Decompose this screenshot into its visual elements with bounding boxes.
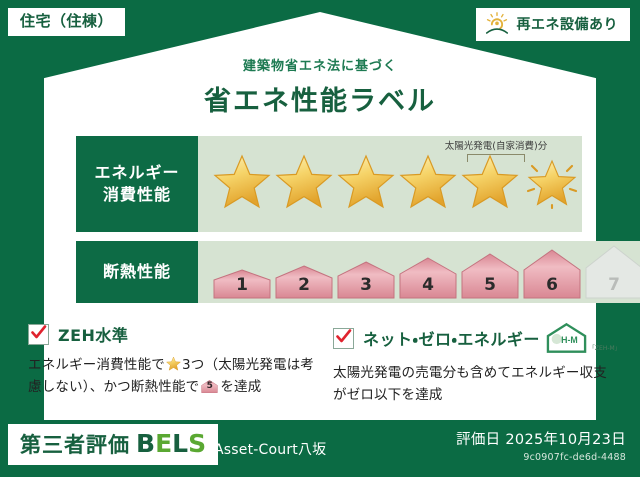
zeh-description: エネルギー消費性能で3つ（太陽光発電は考慮しない）、かつ断熱性能で5を達成: [28, 355, 315, 399]
renewable-badge-label: 再エネ設備あり: [517, 14, 619, 34]
insulation-level-badge-inactive: 7: [584, 245, 640, 299]
energy-label-root: 住宅（住棟） 再エネ設備あり 建築物省エネ法に基づく 省エネ性能ラベル: [0, 0, 640, 477]
bels-letter-s: S: [188, 429, 206, 458]
star-icon: [275, 153, 333, 209]
insulation-level-number: 5: [460, 275, 520, 295]
insulation-performance-rating: 1 2 3: [198, 241, 640, 303]
evaluation-date: 評価日 2025年10月23日: [456, 428, 626, 449]
zeh-checkbox: [28, 324, 49, 345]
insulation-label-text: 断熱性能: [103, 261, 171, 283]
energy-label-line1: エネルギー: [94, 162, 179, 184]
insulation-level-number: 6: [522, 275, 582, 295]
zeh-m-house-icon: H-M: [545, 322, 588, 354]
star-rating: [198, 136, 582, 232]
metrics-section: エネルギー 消費性能 太陽光発電(自家消費)分: [76, 136, 564, 312]
bels-letter-e: E: [155, 429, 172, 458]
insulation-level-number: 1: [212, 275, 272, 295]
star-icon: [213, 153, 271, 209]
star-item: [274, 133, 334, 229]
insulation-level-number: 4: [398, 275, 458, 295]
net-zero-description: 太陽光発電の売電分も含めてエネルギー収支がゼロ以下を達成: [333, 363, 620, 407]
insulation-level-badge: 2: [274, 265, 334, 299]
insulation-level-badge: 4: [398, 257, 458, 299]
insulation-level-number: 3: [336, 275, 396, 295]
insulation-level-badge: 3: [336, 261, 396, 299]
label-title-block: 建築物省エネ法に基づく 省エネ性能ラベル: [0, 55, 640, 118]
inline-house-badge: 5: [201, 379, 218, 394]
energy-label-line2: 消費性能: [103, 184, 171, 206]
energy-performance-label: エネルギー 消費性能: [76, 136, 198, 232]
sun-icon: [484, 12, 510, 36]
insulation-level-number: 2: [274, 275, 334, 295]
star-item: [460, 133, 520, 229]
insulation-level-scale: 1 2 3: [198, 241, 640, 303]
insulation-performance-label: 断熱性能: [76, 241, 198, 303]
inline-house-value: 5: [201, 379, 218, 394]
page-title: 省エネ性能ラベル: [0, 79, 640, 118]
star-icon-solar: [523, 153, 581, 209]
insulation-performance-row: 断熱性能 1: [76, 241, 564, 303]
renewable-equipment-badge: 再エネ設備あり: [476, 8, 631, 41]
zeh-standard-block: ZEH水準 エネルギー消費性能で3つ（太陽光発電は考慮しない）、かつ断熱性能で5…: [28, 322, 315, 407]
zeh-m-logo: H-M 「ZEH-M」: [545, 322, 620, 354]
check-icon: [30, 324, 47, 341]
bels-evaluation-badge: 第三者評価 BELS: [8, 424, 218, 465]
net-zero-title: ネット・ゼロ・エネルギー: [363, 326, 540, 350]
zeh-text-part3: を達成: [220, 379, 261, 395]
bels-letter-b: B: [136, 429, 155, 458]
insulation-level-badge: 6: [522, 249, 582, 299]
svg-text:H-M: H-M: [561, 335, 578, 345]
zeh-heading: ZEH水準: [28, 322, 315, 346]
star-icon: [399, 153, 457, 209]
category-tag: 住宅（住棟）: [8, 8, 125, 36]
check-icon: [335, 328, 352, 345]
zeh-title: ZEH水準: [58, 322, 128, 346]
certification-details: ZEH水準 エネルギー消費性能で3つ（太陽光発電は考慮しない）、かつ断熱性能で5…: [28, 322, 620, 407]
insulation-level-badge: 1: [212, 269, 272, 299]
title-subtitle: 建築物省エネ法に基づく: [0, 55, 640, 74]
insulation-level-number: 7: [584, 275, 640, 295]
net-zero-energy-block: ネット・ゼロ・エネルギー H-M 「ZEH-M」 太陽光発電の売電分も含めてエネ…: [333, 322, 620, 407]
net-zero-heading: ネット・ゼロ・エネルギー H-M 「ZEH-M」: [333, 322, 620, 354]
energy-performance-rating: 太陽光発電(自家消費)分: [198, 136, 582, 232]
zeh-text-part1: エネルギー消費性能で: [28, 357, 165, 373]
evaluation-id: 9c0907fc-de6d-4488: [456, 452, 626, 463]
energy-performance-row: エネルギー 消費性能 太陽光発電(自家消費)分: [76, 136, 564, 232]
zeh-m-caption: 「ZEH-M」: [589, 343, 620, 352]
star-icon: [337, 153, 395, 209]
star-icon: [166, 356, 181, 371]
third-party-evaluation-label: 第三者評価: [20, 429, 130, 459]
evaluation-info: 評価日 2025年10月23日 9c0907fc-de6d-4488: [456, 428, 626, 463]
star-item: [212, 133, 272, 229]
insulation-level-badge: 5: [460, 253, 520, 299]
net-zero-checkbox: [333, 328, 354, 349]
building-name: Asset-Court八坂: [214, 439, 326, 459]
star-item: [336, 133, 396, 229]
star-item: [398, 133, 458, 229]
star-item-solar: [522, 133, 582, 229]
bels-logo: BELS: [136, 429, 206, 458]
star-icon: [461, 153, 519, 209]
bels-letter-l: L: [172, 429, 188, 458]
category-tag-label: 住宅（住棟）: [20, 12, 113, 30]
